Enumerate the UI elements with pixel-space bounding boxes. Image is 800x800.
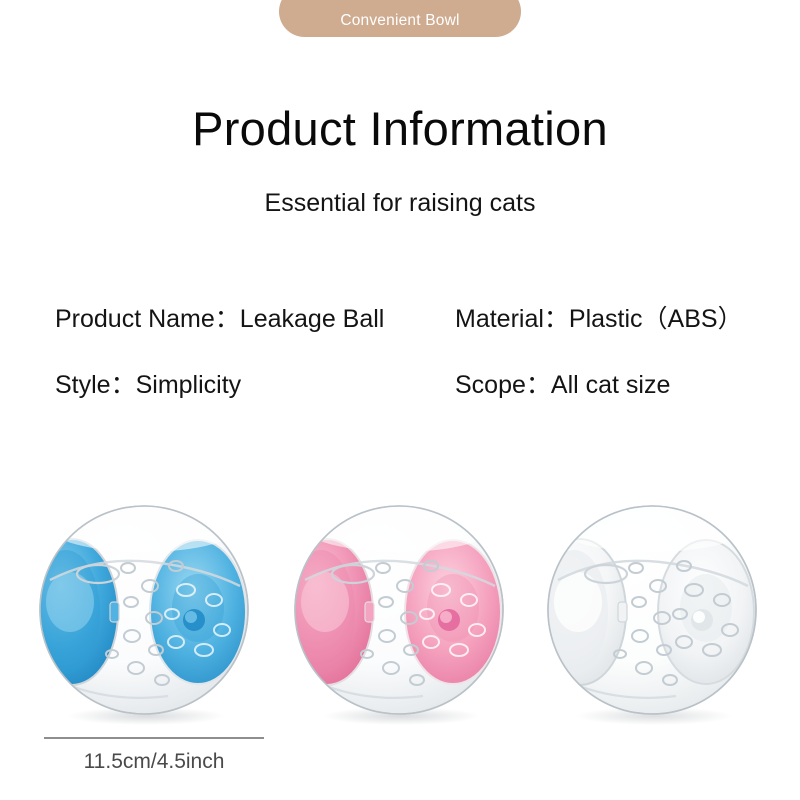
spec-row-1: Product Name：Leakage Ball Material：Plast… [0,298,800,364]
leakage-ball-blue-illustration [36,490,252,730]
product-image-pink [291,490,507,730]
spec-material: Material：Plastic（ABS） [455,302,743,336]
measurement-rule [44,737,264,739]
spec-product-name-label: Product Name： [55,305,240,333]
badge-label: Convenient Bowl [340,12,459,30]
specification-list: Product Name：Leakage Ball Material：Plast… [0,298,800,430]
spec-product-name-value: Leakage Ball [240,305,385,333]
product-image-blue [36,490,252,730]
spec-scope-value: All cat size [551,371,670,399]
spec-style: Style：Simplicity [55,368,241,402]
convenient-bowl-badge: Convenient Bowl [279,0,521,37]
spec-style-label: Style： [55,371,136,399]
spec-material-label: Material： [455,305,569,333]
spec-style-value: Simplicity [136,371,242,399]
spec-scope-label: Scope： [455,371,551,399]
spec-scope: Scope：All cat size [455,368,670,402]
leakage-ball-pink-illustration [291,490,507,730]
product-image-clear [544,490,760,730]
spec-material-value: Plastic（ABS） [569,305,743,333]
spec-product-name: Product Name：Leakage Ball [55,302,384,336]
product-image-row [0,490,800,740]
spec-row-2: Style：Simplicity Scope：All cat size [0,364,800,430]
page-subtitle: Essential for raising cats [0,186,800,220]
measurement-label: 11.5cm/4.5inch [44,748,264,776]
leakage-ball-clear-illustration [544,490,760,730]
page-title: Product Information [0,100,800,158]
